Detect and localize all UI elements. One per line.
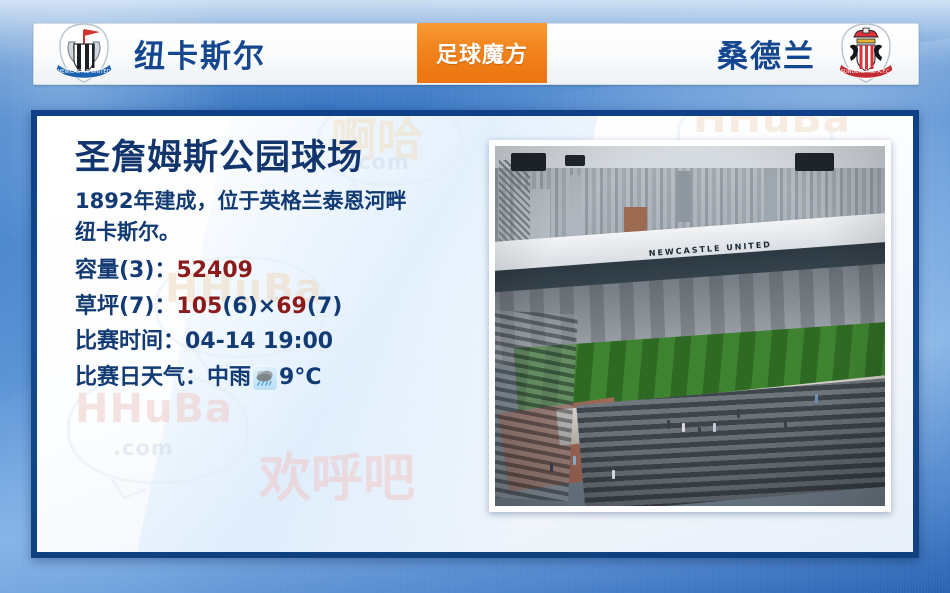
match-stadium-card: NEWCASTLE UNITED 纽卡斯尔 足球魔方 桑德兰 bbox=[0, 0, 950, 593]
watermark-top-right-hh: HHuBa bbox=[693, 116, 851, 142]
capacity-value: 52409 bbox=[176, 253, 253, 289]
svg-text:SUNDERLAND A.F.C.: SUNDERLAND A.F.C. bbox=[841, 69, 892, 75]
site-brand-text: 足球魔方 bbox=[436, 37, 528, 69]
capacity-label: 容量(3)： bbox=[75, 253, 176, 289]
photo-vignette bbox=[495, 146, 885, 506]
stadium-description: 1892年建成，位于英格兰泰恩河畔纽卡斯尔。 bbox=[75, 186, 427, 247]
stadium-photo-frame[interactable]: NEWCASTLE UNITED bbox=[489, 140, 891, 512]
match-time-value: 04-14 19:00 bbox=[185, 324, 333, 360]
stadium-pitch-row: 草坪(7)：105(6)×69(7) bbox=[75, 289, 475, 325]
away-team-name: 桑德兰 bbox=[717, 31, 816, 76]
pitch-separator: × bbox=[258, 289, 276, 325]
svg-text:NEWCASTLE UNITED: NEWCASTLE UNITED bbox=[57, 69, 110, 75]
stadium-panel-frame: 啊哈 .com HHuBa .com HHuBa HHuBa .com 欢呼吧 bbox=[31, 110, 919, 558]
stadium-photo: NEWCASTLE UNITED bbox=[495, 146, 885, 506]
site-brand-logo[interactable]: 足球魔方 bbox=[417, 23, 547, 83]
stadium-panel: 啊哈 .com HHuBa .com HHuBa HHuBa .com 欢呼吧 bbox=[37, 116, 913, 552]
sunderland-afc-crest-icon: SUNDERLAND A.F.C. bbox=[830, 20, 902, 86]
stadium-title: 圣詹姆斯公园球场 bbox=[75, 138, 475, 178]
home-team-block[interactable]: NEWCASTLE UNITED 纽卡斯尔 bbox=[33, 20, 266, 86]
pitch-length-rank: (6) bbox=[222, 289, 257, 325]
pitch-length: 105 bbox=[176, 289, 222, 325]
away-team-block[interactable]: 桑德兰 SUNDERLAND A.F.C. bbox=[717, 20, 917, 86]
home-team-name: 纽卡斯尔 bbox=[134, 31, 266, 76]
newcastle-united-crest-icon: NEWCASTLE UNITED bbox=[48, 20, 120, 86]
pitch-width-rank: (7) bbox=[307, 289, 342, 325]
pitch-width: 69 bbox=[276, 289, 307, 325]
temperature-value: 9°C bbox=[279, 360, 321, 396]
weather-label: 比赛日天气： bbox=[75, 360, 207, 396]
pitch-label: 草坪(7)： bbox=[75, 289, 176, 325]
match-weather-row: 比赛日天气：中雨 9°C bbox=[75, 360, 475, 396]
match-time-row: 比赛时间：04-14 19:00 bbox=[75, 324, 475, 360]
weather-value: 中雨 bbox=[207, 360, 251, 396]
stadium-capacity-row: 容量(3)：52409 bbox=[75, 253, 475, 289]
match-time-label: 比赛时间： bbox=[75, 324, 185, 360]
rain-cloud-icon bbox=[252, 365, 278, 391]
match-header: NEWCASTLE UNITED 纽卡斯尔 足球魔方 桑德兰 bbox=[33, 23, 917, 83]
stadium-info: 圣詹姆斯公园球场 1892年建成，位于英格兰泰恩河畔纽卡斯尔。 容量(3)：52… bbox=[75, 138, 475, 396]
